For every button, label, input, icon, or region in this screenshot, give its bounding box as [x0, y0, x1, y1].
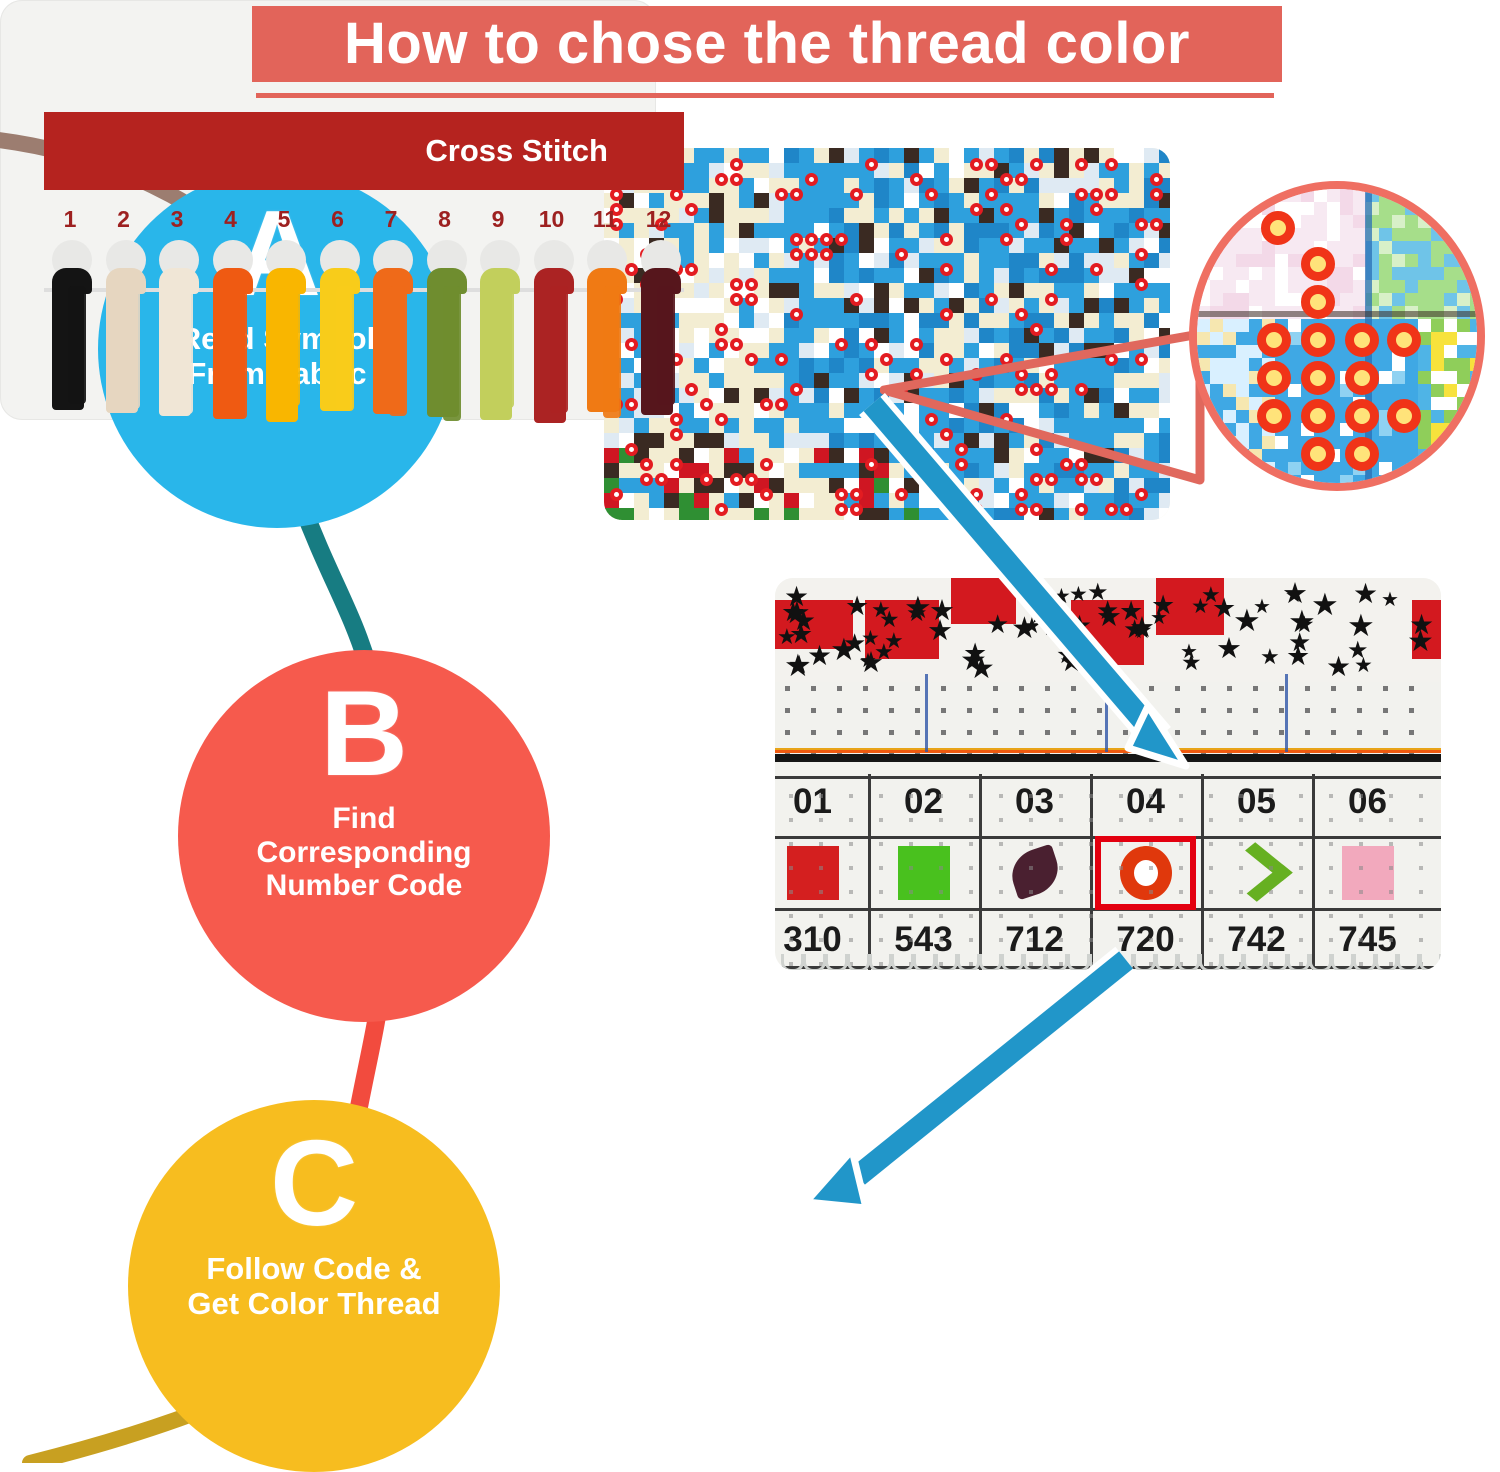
title-underline [256, 93, 1274, 98]
step-b-caption: Find Corresponding Number Code [243, 802, 486, 903]
legend-index-05: 05 [1201, 782, 1312, 822]
step-c-letter: C [270, 1122, 358, 1244]
legend-photo[interactable]: ★★★★★★★★★★★★★★★★★★★★★★★★★★★★★★★★★★★★★★★★… [775, 578, 1441, 970]
legend-index-06: 06 [1312, 782, 1423, 822]
thread-strand-alt-3 [175, 286, 193, 414]
legend-symbol-06 [1342, 846, 1394, 900]
step-c-caption: Follow Code & Get Color Thread [173, 1252, 454, 1321]
thread-strand-alt-1 [68, 286, 86, 404]
thread-strand-alt-11 [603, 286, 621, 418]
magnifier-bubble[interactable] [1189, 181, 1485, 491]
thread-number-11: 11 [583, 206, 627, 233]
thread-strand-alt-9 [496, 286, 514, 408]
thread-number-1: 1 [48, 206, 92, 233]
thread-number-3: 3 [155, 206, 199, 233]
thread-strand-alt-10 [550, 286, 568, 413]
legend-symbol-05 [1219, 842, 1292, 901]
legend-index-04: 04 [1090, 782, 1201, 822]
thread-number-6: 6 [316, 206, 360, 233]
thread-strand-alt-8 [443, 286, 461, 420]
legend-symbol-03 [1005, 844, 1064, 901]
step-circle-c[interactable]: C Follow Code & Get Color Thread [128, 1100, 500, 1472]
thread-strand-12 [641, 286, 657, 415]
thread-number-12: 12 [637, 206, 657, 233]
thread-number-9: 9 [476, 206, 520, 233]
thread-strand-alt-7 [389, 286, 407, 416]
thread-card-banner: Cross Stitch [44, 112, 656, 190]
legend-index-02: 02 [868, 782, 979, 822]
thread-strand-alt-2 [122, 286, 140, 409]
legend-index-01: 01 [775, 782, 868, 822]
page-title: How to chose the thread color [252, 6, 1282, 98]
legend-symbol-grid: 013100254303712047200574206745 [775, 774, 1441, 970]
thread-card-banner-text: Cross Stitch [425, 133, 608, 169]
title-banner: How to chose the thread color [252, 6, 1282, 82]
thread-number-4: 4 [209, 206, 253, 233]
legend-star-band: ★★★★★★★★★★★★★★★★★★★★★★★★★★★★★★★★★★★★★★★★… [775, 578, 1441, 682]
legend-symbol-01 [787, 846, 839, 900]
infographic-canvas: How to chose the thread color A Read Sym… [0, 0, 1500, 1463]
thread-strand-alt-4 [229, 286, 247, 419]
page-title-text: How to chose the thread color [344, 15, 1190, 73]
legend-highlight-box [1095, 836, 1196, 910]
thread-number-7: 7 [369, 206, 413, 233]
thread-number-8: 8 [423, 206, 467, 233]
thread-strand-alt-6 [336, 286, 354, 411]
spiral-binding [775, 954, 1441, 970]
thread-number-10: 10 [530, 206, 574, 233]
step-circle-b[interactable]: B Find Corresponding Number Code [178, 650, 550, 1022]
magnifier-cone [880, 330, 1210, 520]
step-b-letter: B [320, 672, 408, 794]
legend-index-03: 03 [979, 782, 1090, 822]
thread-number-5: 5 [262, 206, 306, 233]
thread-strand-alt-5 [282, 286, 300, 406]
thread-number-2: 2 [102, 206, 146, 233]
